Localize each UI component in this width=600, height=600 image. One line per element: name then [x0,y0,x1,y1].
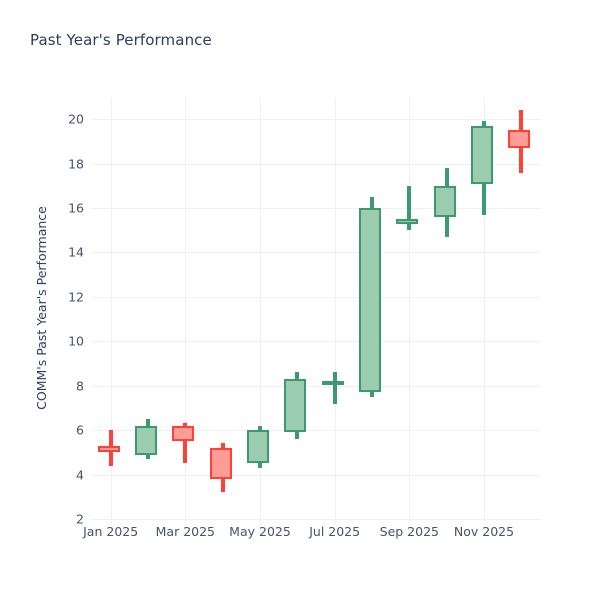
candlestick[interactable] [247,97,273,519]
candlestick-body [396,219,418,223]
y-axis-tick-label: 8 [40,378,84,393]
y-axis-tick-label: 10 [40,334,84,349]
candlestick-wick [333,372,337,403]
x-axis-tick-label: Mar 2025 [156,524,215,539]
candlestick[interactable] [471,97,497,519]
plot-area [92,97,540,519]
candlestick[interactable] [434,97,460,519]
candlestick-chart: Past Year's Performance COMM's Past Year… [0,0,600,600]
candlestick[interactable] [210,97,236,519]
candlestick[interactable] [396,97,422,519]
candlestick[interactable] [322,97,348,519]
y-axis-tick-label: 4 [40,467,84,482]
y-axis-tick-label: 2 [40,512,84,527]
y-axis-tick-label: 14 [40,245,84,260]
y-axis-tick-label: 20 [40,112,84,127]
x-axis-tick-label: May 2025 [229,524,291,539]
x-axis-tick-label: Sep 2025 [380,524,439,539]
y-axis-tick-label: 18 [40,156,84,171]
x-axis-tick-label: Jan 2025 [83,524,138,539]
candlestick-body [210,448,232,479]
candlestick-body [508,130,530,148]
candlestick[interactable] [135,97,161,519]
x-axis-tick-label: Jul 2025 [309,524,360,539]
candlestick-body [98,446,120,453]
candlestick-body [172,426,194,442]
candlestick-body [322,381,344,385]
y-axis-tick-label: 12 [40,289,84,304]
y-axis-tick-labels: 2468101214161820 [32,97,84,519]
y-axis-tick-label: 16 [40,201,84,216]
x-axis-tick-labels: Jan 2025Mar 2025May 2025Jul 2025Sep 2025… [92,524,540,544]
candlestick[interactable] [172,97,198,519]
y-axis-tick-label: 6 [40,423,84,438]
candlestick[interactable] [359,97,385,519]
candlestick-body [359,208,381,392]
candlestick-body [247,430,269,463]
candlestick[interactable] [508,97,534,519]
candlestick-body [434,186,456,217]
candlestick-body [135,426,157,455]
candlestick[interactable] [98,97,124,519]
candlestick-body [471,126,493,184]
candlestick-body [284,379,306,432]
candlestick[interactable] [284,97,310,519]
chart-title: Past Year's Performance [30,31,212,49]
x-axis-tick-label: Nov 2025 [454,524,514,539]
